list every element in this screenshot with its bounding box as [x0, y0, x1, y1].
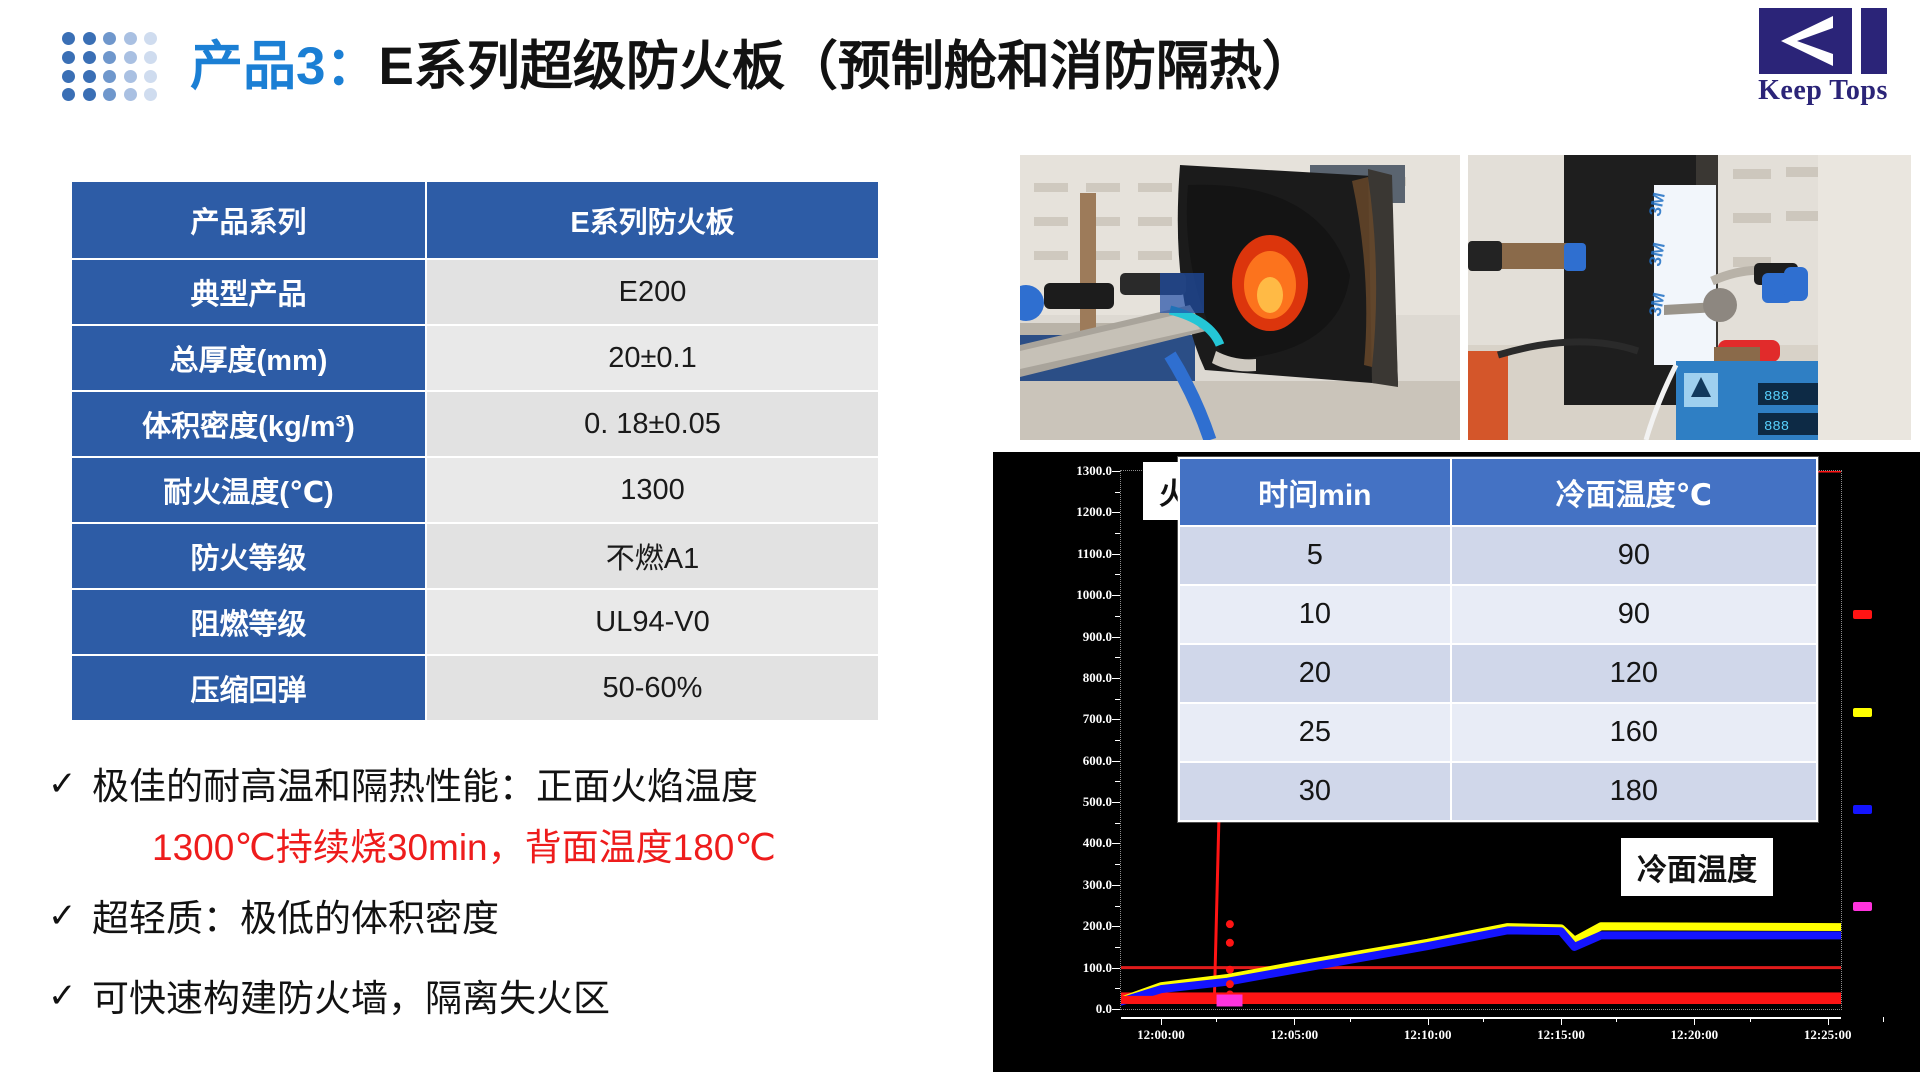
dot-5 — [62, 51, 75, 64]
spec-value: E200 — [426, 259, 879, 325]
y-axis-minor-tick — [1115, 988, 1120, 989]
cell-time: 20 — [1179, 644, 1451, 703]
logo-text: Keep Tops — [1748, 75, 1898, 107]
dot-7 — [103, 51, 116, 64]
legend-chip-ambient-temperature — [1853, 902, 1872, 911]
x-axis-tick-label: 12:10:00 — [1404, 1027, 1452, 1043]
dot-1 — [83, 32, 96, 45]
cell-temp: 90 — [1451, 585, 1817, 644]
spec-value: 不燃A1 — [426, 523, 879, 589]
y-axis-tick-mark — [1112, 637, 1120, 638]
spec-header-label: 产品系列 — [71, 181, 426, 259]
cell-time: 5 — [1179, 526, 1451, 585]
y-axis-tick-label: 1000.0 — [1076, 587, 1112, 603]
dot-16 — [83, 88, 96, 101]
y-axis-tick-label: 300.0 — [1083, 877, 1112, 893]
feature-bullet-list: ✓ 极佳的耐高温和隔热性能：正面火焰温度 1300℃持续烧30min，背面温度1… — [48, 762, 948, 1028]
dot-10 — [62, 70, 75, 83]
x-axis-tick-mark — [1161, 1017, 1162, 1025]
y-axis-tick-mark — [1112, 843, 1120, 844]
y-axis-minor-tick — [1115, 906, 1120, 907]
x-axis-minor-tick — [1750, 1017, 1751, 1022]
spec-label: 典型产品 — [71, 259, 426, 325]
y-axis-tick-mark — [1112, 554, 1120, 555]
bullet-highlight-text: 1300℃持续烧30min，背面温度180℃ — [152, 824, 948, 872]
dot-11 — [83, 70, 96, 83]
table-row: 压缩回弹 50-60% — [71, 655, 879, 721]
flame-data-point — [1226, 939, 1234, 947]
x-axis-tick-mark — [1828, 1017, 1829, 1025]
x-axis-minor-tick — [1483, 1017, 1484, 1022]
dot-9 — [144, 51, 157, 64]
y-axis-tick-label: 0.0 — [1096, 1001, 1112, 1017]
slide-header: 产品3：E系列超级防火板（预制舱和消防隔热） Keep Tops — [0, 0, 1920, 130]
logo-bar — [1852, 8, 1861, 74]
dot-12 — [103, 70, 116, 83]
dot-3 — [124, 32, 137, 45]
spec-value: UL94-V0 — [426, 589, 879, 655]
photo-fire-test-glowing-panel — [1020, 155, 1460, 440]
y-axis-minor-tick — [1115, 781, 1120, 782]
cell-time: 10 — [1179, 585, 1451, 644]
x-axis-tick-mark — [1428, 1017, 1429, 1025]
list-item: ✓ 超轻质：极低的体积密度 — [48, 894, 948, 944]
y-axis-tick-mark — [1112, 471, 1120, 472]
page-title-prefix: 产品3： — [190, 37, 378, 96]
bullet-text: 极佳的耐高温和隔热性能：正面火焰温度 — [92, 762, 758, 812]
y-axis-minor-tick — [1115, 823, 1120, 824]
spec-value: 20±0.1 — [426, 325, 879, 391]
x-axis-line — [1121, 1017, 1841, 1019]
y-axis-tick-mark — [1112, 1009, 1120, 1010]
y-axis-tick-mark — [1112, 512, 1120, 513]
y-axis-minor-tick — [1115, 492, 1120, 493]
y-axis-tick-mark — [1112, 678, 1120, 679]
spec-value: 50-60% — [426, 655, 879, 721]
y-axis-minor-tick — [1115, 657, 1120, 658]
data-table-body: 5 90 10 90 20 120 25 160 30 180 — [1179, 526, 1817, 821]
table-row: 总厚度(mm) 20±0.1 — [71, 325, 879, 391]
product-spec-table: 产品系列 E系列防火板 典型产品 E200 总厚度(mm) 20±0.1 体积密… — [70, 180, 880, 722]
page-title-main: E系列超级防火板（预制舱和消防隔热） — [378, 37, 1314, 96]
legend-chip-flame-temperature — [1853, 610, 1872, 619]
page-title: 产品3：E系列超级防火板（预制舱和消防隔热） — [190, 38, 1315, 96]
flame-data-point — [1226, 920, 1234, 928]
dot-14 — [144, 70, 157, 83]
check-icon: ✓ — [48, 974, 92, 1020]
logo-mark-icon — [1759, 8, 1887, 74]
y-axis-tick-mark — [1112, 926, 1120, 927]
x-axis-tick-mark — [1561, 1017, 1562, 1025]
data-table-header-temp: 冷面温度℃ — [1451, 458, 1817, 526]
list-item: ✓ 可快速构建防火墙，隔离失火区 — [48, 974, 948, 1024]
y-axis-minor-tick — [1115, 574, 1120, 575]
x-axis-tick-label: 12:25:00 — [1804, 1027, 1852, 1043]
table-row: 5 90 — [1179, 526, 1817, 585]
x-axis-tick-label: 12:20:00 — [1670, 1027, 1718, 1043]
y-axis-minor-tick — [1115, 699, 1120, 700]
y-axis-tick-label: 400.0 — [1083, 835, 1112, 851]
bullet-text: 超轻质：极低的体积密度 — [92, 894, 499, 944]
dot-13 — [124, 70, 137, 83]
legend-chip-hot-face-temperature — [1853, 708, 1872, 717]
cell-temp: 180 — [1451, 762, 1817, 821]
decorative-dot-grid — [62, 32, 162, 104]
flame-data-point — [1226, 966, 1234, 974]
spec-value: 1300 — [426, 457, 879, 523]
spec-header-value: E系列防火板 — [426, 181, 879, 259]
y-axis-minor-tick — [1115, 864, 1120, 865]
y-axis-tick-mark — [1112, 802, 1120, 803]
data-table-header-time: 时间min — [1179, 458, 1451, 526]
y-axis-tick-label: 700.0 — [1083, 711, 1112, 727]
table-row: 10 90 — [1179, 585, 1817, 644]
data-table-header-row: 时间min 冷面温度℃ — [1179, 458, 1817, 526]
y-axis-tick-label: 1100.0 — [1077, 546, 1112, 562]
y-axis-tick-mark — [1112, 761, 1120, 762]
x-axis-tick-label: 12:05:00 — [1270, 1027, 1318, 1043]
cell-temp: 90 — [1451, 526, 1817, 585]
table-row: 30 180 — [1179, 762, 1817, 821]
y-axis-minor-tick — [1115, 740, 1120, 741]
x-axis-minor-tick — [1883, 1017, 1884, 1022]
table-row: 防火等级 不燃A1 — [71, 523, 879, 589]
bullet-text: 可快速构建防火墙，隔离失火区 — [92, 974, 610, 1024]
spec-table-header-row: 产品系列 E系列防火板 — [71, 181, 879, 259]
photo-2-image: 3M 3M 3M 888888 — [1468, 155, 1911, 440]
dot-4 — [144, 32, 157, 45]
y-axis-tick-label: 1300.0 — [1076, 463, 1112, 479]
check-icon: ✓ — [48, 762, 92, 808]
y-axis-tick-label: 100.0 — [1083, 960, 1112, 976]
y-axis-minor-tick — [1115, 533, 1120, 534]
spec-label: 防火等级 — [71, 523, 426, 589]
svg-text:888: 888 — [1764, 389, 1789, 405]
legend-chip-cold-face-temperature — [1853, 805, 1872, 814]
cell-time: 25 — [1179, 703, 1451, 762]
dot-15 — [62, 88, 75, 101]
table-row: 20 120 — [1179, 644, 1817, 703]
photo-1-image — [1020, 155, 1460, 440]
table-row: 25 160 — [1179, 703, 1817, 762]
dot-6 — [83, 51, 96, 64]
spec-table-body: 产品系列 E系列防火板 典型产品 E200 总厚度(mm) 20±0.1 体积密… — [71, 181, 879, 721]
spec-label: 总厚度(mm) — [71, 325, 426, 391]
spec-value: 0. 18±0.05 — [426, 391, 879, 457]
cell-temp: 120 — [1451, 644, 1817, 703]
table-row: 典型产品 E200 — [71, 259, 879, 325]
dot-18 — [124, 88, 137, 101]
table-row: 体积密度(kg/m³) 0. 18±0.05 — [71, 391, 879, 457]
cell-time: 30 — [1179, 762, 1451, 821]
ambient-marker — [1217, 995, 1243, 1007]
svg-text:888: 888 — [1764, 419, 1789, 435]
spec-label: 压缩回弹 — [71, 655, 426, 721]
y-axis-tick-label: 1200.0 — [1076, 504, 1112, 520]
table-row: 耐火温度(℃) 1300 — [71, 457, 879, 523]
y-axis-minor-tick — [1115, 947, 1120, 948]
x-axis-minor-tick — [1216, 1017, 1217, 1022]
list-item: ✓ 极佳的耐高温和隔热性能：正面火焰温度 — [48, 762, 948, 812]
y-axis-tick-mark — [1112, 719, 1120, 720]
x-axis-minor-tick — [1350, 1017, 1351, 1022]
y-axis-tick-mark — [1112, 968, 1120, 969]
y-axis-tick-label: 800.0 — [1083, 670, 1112, 686]
y-axis-tick-label: 600.0 — [1083, 753, 1112, 769]
flame-data-point — [1226, 980, 1234, 988]
table-row: 阻燃等级 UL94-V0 — [71, 589, 879, 655]
chevron-left-icon — [1781, 16, 1833, 66]
dot-17 — [103, 88, 116, 101]
x-axis-tick-mark — [1694, 1017, 1695, 1025]
dot-0 — [62, 32, 75, 45]
cell-temp: 160 — [1451, 703, 1817, 762]
spec-label: 体积密度(kg/m³) — [71, 391, 426, 457]
y-axis-tick-label: 500.0 — [1083, 794, 1112, 810]
x-axis-tick-label: 12:00:00 — [1137, 1027, 1185, 1043]
x-axis-tick-label: 12:15:00 — [1537, 1027, 1585, 1043]
dot-8 — [124, 51, 137, 64]
x-axis-minor-tick — [1616, 1017, 1617, 1022]
spec-label: 阻燃等级 — [71, 589, 426, 655]
annotation-cold-face-temperature: 冷面温度 — [1621, 838, 1773, 896]
brand-logo: Keep Tops — [1748, 8, 1898, 107]
dot-19 — [144, 88, 157, 101]
y-axis-tick-mark — [1112, 885, 1120, 886]
x-axis-tick-mark — [1294, 1017, 1295, 1025]
spec-label: 耐火温度(℃) — [71, 457, 426, 523]
photo-panel-thermocouple-rig: 3M 3M 3M 888888 — [1468, 155, 1911, 440]
y-axis-minor-tick — [1115, 616, 1120, 617]
cold-face-temperature-table: 时间min 冷面温度℃ 5 90 10 90 20 120 25 160 30 … — [1178, 457, 1818, 822]
y-axis-tick-label: 200.0 — [1083, 918, 1112, 934]
y-axis-tick-mark — [1112, 595, 1120, 596]
check-icon: ✓ — [48, 894, 92, 940]
dot-2 — [103, 32, 116, 45]
data-table-head: 时间min 冷面温度℃ — [1179, 458, 1817, 526]
y-axis-tick-label: 900.0 — [1083, 629, 1112, 645]
